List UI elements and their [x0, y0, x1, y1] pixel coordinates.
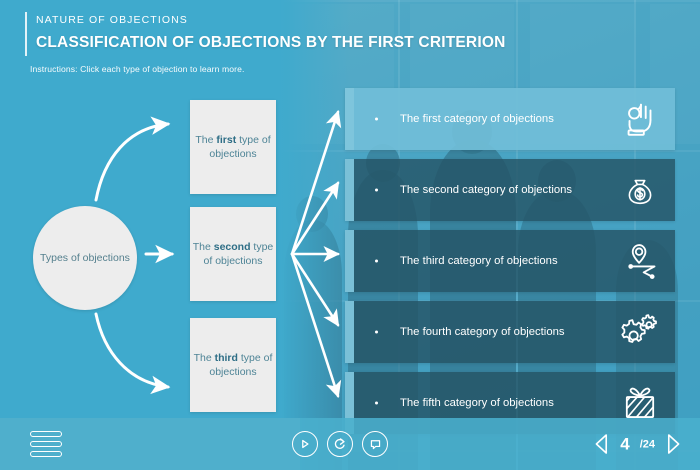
bullet-icon: [375, 189, 378, 192]
bullet-icon: [375, 118, 378, 121]
box-prefix: The: [194, 352, 215, 364]
row-left-edge: [345, 88, 354, 150]
instructions-text: Instructions: Click each type of objecti…: [30, 64, 244, 74]
category-row-1[interactable]: The first category of objections: [345, 88, 675, 150]
money-bag-icon: [619, 169, 661, 211]
current-page-number: 4: [620, 434, 629, 454]
type-box-third[interactable]: The third type of objections: [190, 318, 276, 412]
type-box-third-label: The third type of objections: [190, 351, 276, 379]
player-bar: 4 /24: [0, 418, 700, 470]
root-node-label: Types of objections: [40, 252, 130, 265]
bullet-icon: [375, 402, 378, 405]
page-title: CLASSIFICATION OF OBJECTIONS BY THE FIRS…: [36, 34, 505, 52]
category-row-4[interactable]: The fourth category of objections: [345, 301, 675, 363]
root-node-types-of-objections[interactable]: Types of objections: [33, 206, 137, 310]
hamburger-menu-icon[interactable]: [30, 431, 62, 457]
category-label-3: The third category of objections: [400, 255, 558, 267]
type-box-first-label: The first type of objections: [190, 133, 276, 161]
speech-bubble-icon[interactable]: [362, 431, 388, 457]
box-emphasis: second: [214, 241, 251, 253]
type-box-first[interactable]: The first type of objections: [190, 100, 276, 194]
bullet-icon: [375, 260, 378, 263]
type-box-second[interactable]: The second type of objections: [190, 207, 276, 301]
box-emphasis: first: [216, 134, 236, 146]
gears-icon: [619, 311, 661, 353]
slide-header: NATURE OF OBJECTIONS CLASSIFICATION OF O…: [0, 0, 700, 86]
box-prefix: The: [195, 134, 216, 146]
play-triangle: [299, 438, 311, 450]
prev-triangle-icon[interactable]: [593, 433, 610, 456]
replay-arrow: [333, 437, 347, 451]
slide-stage: NATURE OF OBJECTIONS CLASSIFICATION OF O…: [0, 0, 700, 470]
category-list: The first category of objections The sec…: [345, 88, 675, 443]
box-prefix: The: [193, 241, 214, 253]
category-label-2: The second category of objections: [400, 184, 572, 196]
next-triangle-icon[interactable]: [665, 433, 682, 456]
speech-bubble-shape: [369, 438, 382, 451]
play-icon[interactable]: [292, 431, 318, 457]
row-left-edge: [345, 159, 354, 221]
map-route-icon: [619, 240, 661, 282]
page-navigation: 4 /24: [593, 433, 682, 456]
arrow-root-to-third: [96, 314, 168, 387]
category-row-3[interactable]: The third category of objections: [345, 230, 675, 292]
arrow-root-to-first: [96, 124, 168, 200]
category-label-5: The fifth category of objections: [400, 397, 554, 409]
ok-hand-icon: [619, 98, 661, 140]
hamburger-bar: [30, 451, 62, 457]
hamburger-bar: [30, 441, 62, 447]
title-accent-rule: [25, 12, 27, 56]
eyebrow-text: NATURE OF OBJECTIONS: [36, 14, 188, 26]
media-controls: [292, 431, 388, 457]
category-label-1: The first category of objections: [400, 113, 554, 125]
box-emphasis: third: [215, 352, 238, 364]
row-left-edge: [345, 230, 354, 292]
hamburger-bar: [30, 431, 62, 437]
total-pages: /24: [640, 438, 655, 450]
type-box-second-label: The second type of objections: [190, 240, 276, 268]
row-left-edge: [345, 301, 354, 363]
category-row-2[interactable]: The second category of objections: [345, 159, 675, 221]
replay-icon[interactable]: [327, 431, 353, 457]
category-label-4: The fourth category of objections: [400, 326, 565, 338]
bullet-icon: [375, 331, 378, 334]
